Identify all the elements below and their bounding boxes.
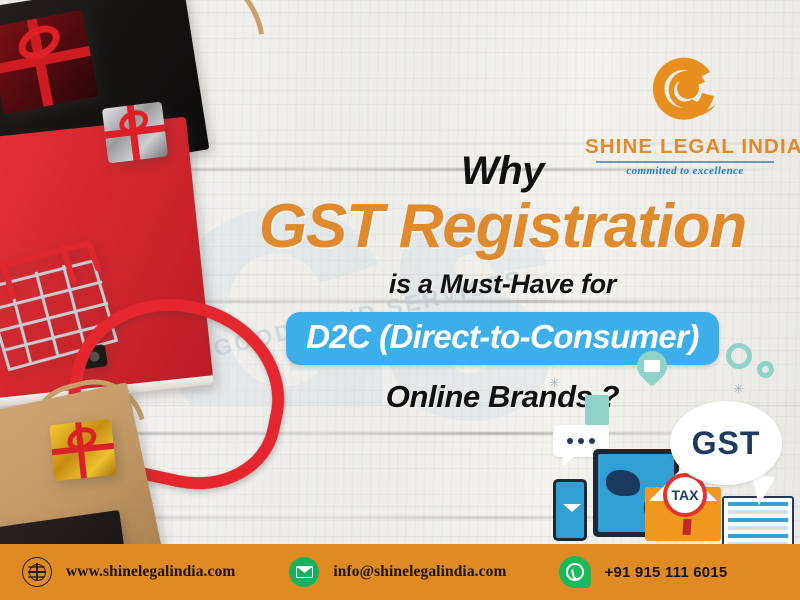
- sparkle-icon: ✳: [549, 375, 560, 391]
- envelope-icon: [289, 557, 319, 587]
- footer-website[interactable]: www.shinelegalindia.com: [22, 557, 235, 587]
- footer-email[interactable]: info@shinelegalindia.com: [289, 557, 506, 587]
- headline-line-3: is a Must-Have for: [215, 269, 790, 300]
- email-label: info@shinelegalindia.com: [333, 563, 506, 581]
- silver-gift-box: [102, 102, 168, 164]
- globe-icon: [22, 557, 52, 587]
- gear-icon: [757, 361, 774, 378]
- headline-block: Why GST Registration is a Must-Have for …: [215, 150, 790, 415]
- phone-label: +91 915 111 6015: [605, 564, 728, 581]
- headline-pill-row: D2C (Direct-to-Consumer): [215, 312, 790, 365]
- gst-illustration: ✳ ✳ ✳ TAX GST: [545, 387, 800, 552]
- gear-icon: [726, 343, 752, 369]
- contact-footer: www.shinelegalindia.com info@shinelegali…: [0, 544, 800, 600]
- swirl-circle-logo-icon: [648, 52, 722, 126]
- headline-line-2: GST Registration: [215, 194, 790, 259]
- whatsapp-icon: [559, 556, 591, 588]
- poster-canvas: GOODS AND SERVICES: [0, 0, 800, 600]
- gold-gift-box: [49, 419, 117, 481]
- smartphone-icon: [553, 479, 587, 541]
- headline-line-1: Why: [215, 150, 790, 192]
- website-label: www.shinelegalindia.com: [66, 563, 235, 581]
- dark-red-gift-box: [0, 10, 99, 115]
- document-icon: [585, 395, 609, 425]
- gst-speech-bubble: GST: [670, 401, 782, 485]
- sparkle-icon: ✳: [733, 381, 744, 397]
- footer-phone[interactable]: +91 915 111 6015: [559, 556, 728, 588]
